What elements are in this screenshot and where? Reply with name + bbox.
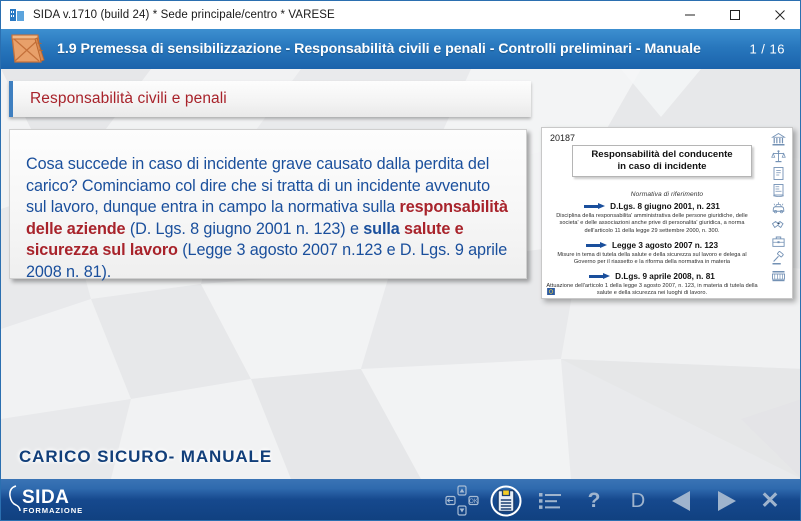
thumbnail-title-box: Responsabilità del conducente in caso di… bbox=[572, 145, 752, 177]
handshake-icon bbox=[770, 217, 787, 232]
document-icon bbox=[770, 166, 787, 181]
arrow-right-icon bbox=[586, 242, 608, 249]
entry-body: Attuazione dell'articolo 1 della legge 3… bbox=[546, 283, 758, 298]
entry-heading: D.Lgs. 8 giugno 2001, n. 231 bbox=[610, 202, 720, 211]
thumbnail-subtitle: Normativa di riferimento bbox=[542, 191, 792, 198]
thumbnail-entry-0: D.Lgs. 8 giugno 2001, n. 231 Disciplina … bbox=[546, 202, 758, 236]
slide-body-text: Cosa succede in caso di incidente grave … bbox=[26, 154, 510, 283]
slide-footer-label: CARICO SICURO- MANUALE bbox=[19, 447, 272, 467]
toolbar-buttons: OK bbox=[440, 479, 792, 521]
exit-icon[interactable]: ✕ bbox=[748, 479, 792, 521]
entry-heading: D.Lgs. 9 aprile 2008, n. 81 bbox=[615, 272, 715, 281]
app-icon bbox=[10, 8, 26, 22]
eu-flag-icon bbox=[547, 288, 555, 295]
slide-title-box: Responsabilità civili e penali bbox=[9, 81, 531, 117]
sida-formazione-logo: SIDA FORMAZIONE bbox=[7, 483, 93, 519]
svg-text:FORMAZIONE: FORMAZIONE bbox=[23, 506, 83, 515]
dictionary-icon[interactable]: D bbox=[616, 479, 660, 521]
dictionary-label: D bbox=[631, 491, 645, 511]
exit-label: ✕ bbox=[760, 489, 779, 512]
entry-body: Misure in tema di tutela della salute e … bbox=[546, 252, 758, 267]
scroll-document-icon bbox=[770, 183, 787, 198]
thumbnail-title-line2: in caso di incidente bbox=[575, 161, 749, 173]
application-window: SIDA v.1710 (build 24) * Sede principale… bbox=[0, 0, 801, 521]
close-button[interactable] bbox=[757, 1, 801, 29]
window-controls bbox=[667, 1, 801, 29]
courthouse-icon bbox=[770, 132, 787, 147]
entry-heading: Legge 3 agosto 2007 n. 123 bbox=[612, 241, 718, 250]
bottom-toolbar: SIDA FORMAZIONE OK bbox=[1, 479, 801, 521]
thumbnail-entry-2: D.Lgs. 9 aprile 2008, n. 81 Attuazione d… bbox=[546, 272, 758, 298]
help-label: ? bbox=[588, 490, 601, 511]
notes-document-icon[interactable] bbox=[484, 479, 528, 521]
header-title: 1.9 Premessa di sensibilizzazione - Resp… bbox=[57, 41, 701, 57]
maximize-button[interactable] bbox=[712, 1, 757, 29]
thumbnail-title-line1: Responsabilità del conducente bbox=[575, 149, 749, 161]
arrow-right-icon bbox=[589, 273, 611, 280]
svg-text:SIDA: SIDA bbox=[22, 487, 69, 508]
navigation-pad-icon[interactable]: OK bbox=[440, 479, 484, 521]
body-seg-3: sulla bbox=[363, 220, 404, 238]
scales-of-justice-icon bbox=[770, 149, 787, 164]
judge-bench-icon bbox=[770, 268, 787, 283]
wooden-crate-icon bbox=[7, 26, 49, 68]
entry-body: Disciplina della responsabilita' amminis… bbox=[546, 213, 758, 236]
window-title: SIDA v.1710 (build 24) * Sede principale… bbox=[33, 9, 335, 21]
slide-canvas: Responsabilità civili e penali Cosa succ… bbox=[1, 69, 801, 479]
help-icon[interactable]: ? bbox=[572, 479, 616, 521]
previous-icon[interactable] bbox=[660, 479, 704, 521]
thumbnail-code: 20187 bbox=[550, 133, 575, 143]
thumbnail-entry-1: Legge 3 agosto 2007 n. 123 Misure in tem… bbox=[546, 241, 758, 267]
page-counter: 1 / 16 bbox=[749, 42, 785, 57]
briefcase-icon bbox=[770, 234, 787, 249]
svg-text:OK: OK bbox=[469, 499, 478, 505]
reference-slide-thumbnail[interactable]: 20187 Responsabilità del conducente in c… bbox=[541, 127, 793, 299]
list-index-icon[interactable] bbox=[528, 479, 572, 521]
car-crash-icon bbox=[770, 200, 787, 215]
arrow-right-icon bbox=[584, 203, 606, 210]
next-icon[interactable] bbox=[704, 479, 748, 521]
gavel-icon bbox=[770, 251, 787, 266]
slide-title: Responsabilità civili e penali bbox=[30, 90, 227, 108]
window-titlebar: SIDA v.1710 (build 24) * Sede principale… bbox=[1, 1, 801, 30]
thumbnail-icon-column bbox=[767, 132, 789, 283]
body-seg-2: (D. Lgs. 8 giugno 2001 n. 123) e bbox=[125, 220, 363, 238]
minimize-button[interactable] bbox=[667, 1, 712, 29]
module-header: 1.9 Premessa di sensibilizzazione - Resp… bbox=[1, 29, 801, 69]
slide-text-box: Cosa succede in caso di incidente grave … bbox=[9, 129, 527, 279]
